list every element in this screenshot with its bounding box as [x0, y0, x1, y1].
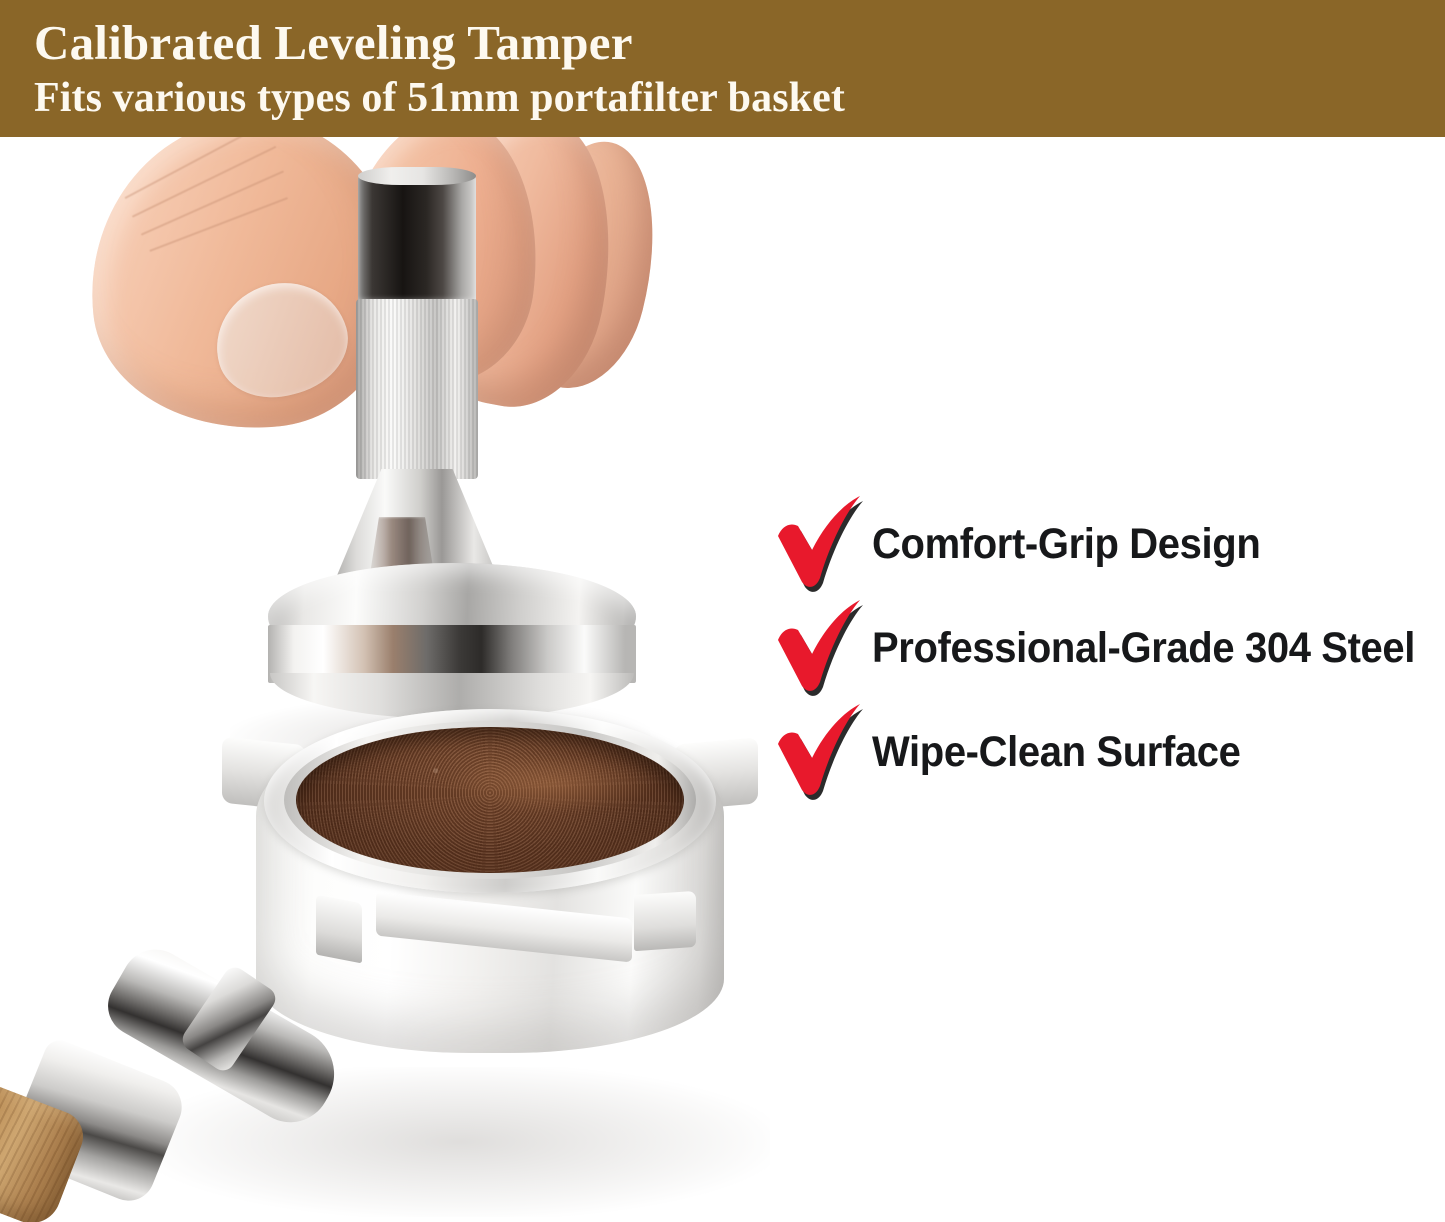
portafilter-lug-left [316, 895, 362, 964]
coffee-highlight [446, 755, 656, 813]
feature-item: Professional-Grade 304 Steel [772, 596, 1438, 700]
feature-label: Wipe-Clean Surface [872, 729, 1241, 775]
portafilter-handle-assembly [0, 967, 414, 1222]
feature-list: Comfort-Grip Design Professional-Grade 3… [772, 492, 1438, 804]
tamper [262, 157, 642, 717]
tamper-handle-top-band [358, 173, 476, 303]
red-check-icon [772, 496, 872, 592]
tamper-handle-cap [358, 167, 476, 185]
tamper-handle-knurled-grip [356, 299, 478, 479]
red-check-icon [772, 600, 872, 696]
ground-coffee-bed [296, 727, 684, 873]
red-check-icon [772, 704, 872, 800]
feature-label: Comfort-Grip Design [872, 521, 1260, 567]
portafilter-lug-right [634, 891, 696, 951]
header-banner: Calibrated Leveling Tamper Fits various … [0, 0, 1445, 137]
feature-item: Wipe-Clean Surface [772, 700, 1438, 804]
feature-item: Comfort-Grip Design [772, 492, 1438, 596]
page-subtitle: Fits various types of 51mm portafilter b… [34, 72, 1445, 124]
feature-label: Professional-Grade 304 Steel [872, 625, 1415, 671]
page-title: Calibrated Leveling Tamper [34, 14, 1445, 72]
